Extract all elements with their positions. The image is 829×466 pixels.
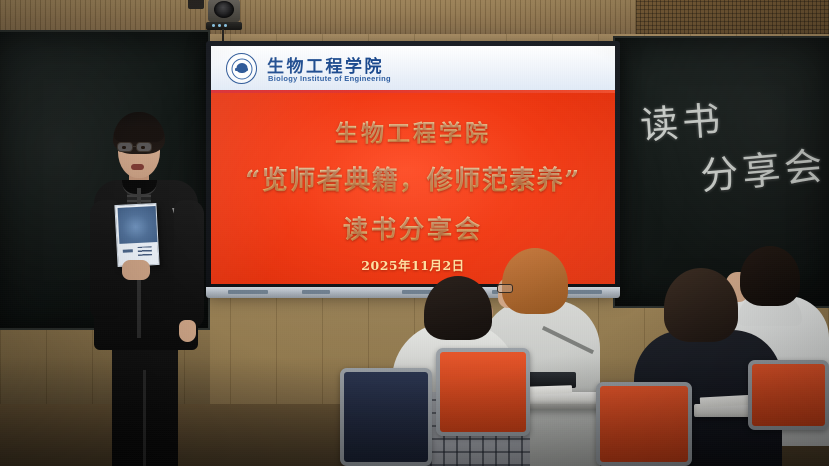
- presenter-eye-right: [141, 146, 145, 149]
- camera-led-1: [212, 24, 215, 27]
- slide-subtitle: 读书分享会: [211, 210, 615, 246]
- brand-name-en: Biology Institute of Engineering: [268, 74, 391, 83]
- chair-orange-center[interactable]: [436, 348, 530, 436]
- paper-sheet-center: [524, 385, 572, 395]
- chair-orange-right[interactable]: [596, 382, 692, 466]
- student-2-eyeglasses-icon: [497, 284, 513, 293]
- slide-quote: “览师者典籍，修师范素养”: [211, 160, 615, 197]
- presenter-eye-left: [122, 146, 126, 149]
- book-cover-art: [118, 206, 158, 244]
- slide-title: 生物工程学院: [211, 114, 615, 148]
- acoustic-panel: [636, 0, 829, 34]
- camera-lens-icon: [214, 1, 234, 18]
- camera-led-2: [218, 24, 221, 27]
- presenter-arm-right: [174, 200, 204, 328]
- presenter: [86, 112, 210, 466]
- display-screen[interactable]: 生物工程学院 Biology Institute of Engineering …: [206, 41, 620, 291]
- book-cover-text-1: [123, 249, 133, 253]
- chair-orange-far-right[interactable]: [748, 360, 829, 430]
- chalk-text-line-2: 分享会: [698, 135, 828, 201]
- camera-mount: [188, 0, 204, 9]
- student-4-head: [740, 246, 800, 306]
- college-emblem-icon: [226, 53, 257, 84]
- slide-header-band: 生物工程学院 Biology Institute of Engineering: [211, 46, 615, 93]
- emblem-core: [236, 63, 247, 73]
- chair-blue-front-left[interactable]: [340, 368, 432, 466]
- presenter-leg-seam: [143, 370, 146, 466]
- presenter-hand-right: [179, 320, 196, 342]
- slide-surface: 生物工程学院 Biology Institute of Engineering …: [211, 46, 615, 284]
- eyeglasses-bridge: [133, 146, 137, 147]
- bezel-control-2[interactable]: [302, 290, 330, 294]
- presenter-mouth: [131, 164, 144, 170]
- classroom-photo: 读书 分享会 生物工程学院 Biology Institute of Engin…: [0, 0, 829, 466]
- book-cover-text-2: [138, 246, 152, 256]
- presenter-fringe: [114, 126, 164, 142]
- held-book: [114, 203, 159, 267]
- chalk-text-line-1: 读书: [638, 89, 726, 150]
- camera-led-3: [224, 24, 227, 27]
- presenter-hand-left: [122, 260, 150, 280]
- student-2-head: [502, 248, 568, 314]
- student-3-head: [664, 268, 738, 342]
- camera-cable: [222, 29, 224, 41]
- bezel-control-1[interactable]: [228, 290, 268, 294]
